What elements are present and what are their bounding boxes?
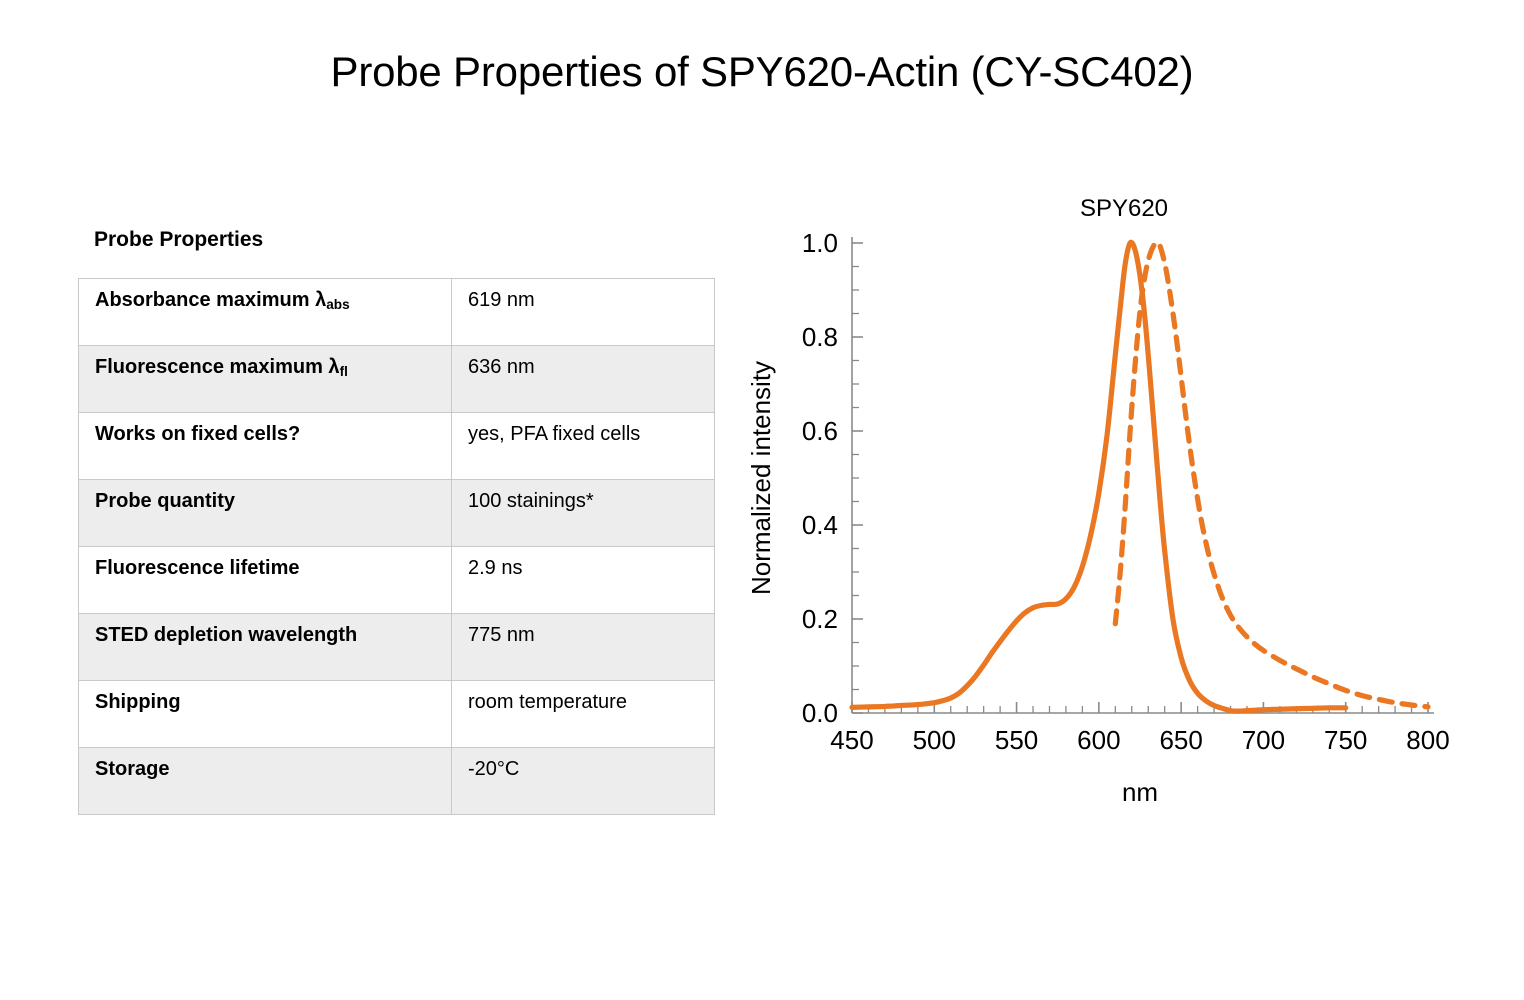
table-row: Works on fixed cells?yes, PFA fixed cell… (79, 413, 715, 480)
y-tick-label: 0.6 (802, 416, 838, 446)
table-row: Fluorescence maximum λfl636 nm (79, 346, 715, 413)
y-tick-label: 0.4 (802, 510, 838, 540)
y-tick-label: 0.2 (802, 604, 838, 634)
property-label-cell: Works on fixed cells? (79, 413, 452, 480)
y-tick-label: 1.0 (802, 228, 838, 258)
property-label-subscript: fl (340, 364, 348, 379)
table-row: Probe quantity100 stainings* (79, 480, 715, 547)
page-title: Probe Properties of SPY620-Actin (CY-SC4… (0, 48, 1524, 96)
x-tick-label: 700 (1242, 725, 1285, 755)
property-label-cell: Probe quantity (79, 480, 452, 547)
spectra-plot-svg: 0.00.20.40.60.81.0 450500550600650700750… (740, 195, 1460, 805)
absorption-curve (852, 242, 1346, 711)
property-value-cell: 775 nm (452, 614, 715, 681)
x-tick-label: 650 (1159, 725, 1202, 755)
y-axis-tick-labels: 0.00.20.40.60.81.0 (802, 228, 838, 728)
probe-properties-panel: Probe Properties Absorbance maximum λabs… (78, 228, 682, 815)
x-axis-title: nm (1122, 777, 1158, 805)
table-row: STED depletion wavelength775 nm (79, 614, 715, 681)
x-tick-label: 800 (1406, 725, 1449, 755)
property-label-cell: Storage (79, 748, 452, 815)
spectra-chart: SPY620 0.00.20.40.60.81.0 45050055060065… (740, 195, 1460, 805)
x-axis-tick-labels: 450500550600650700750800 (830, 725, 1449, 755)
property-value-cell: 636 nm (452, 346, 715, 413)
y-tick-label: 0.8 (802, 322, 838, 352)
property-value-cell: 619 nm (452, 279, 715, 346)
x-tick-label: 750 (1324, 725, 1367, 755)
property-value-cell: 2.9 ns (452, 547, 715, 614)
property-label-cell: Fluorescence maximum λfl (79, 346, 452, 413)
table-row: Storage-20°C (79, 748, 715, 815)
y-tick-label: 0.0 (802, 698, 838, 728)
table-row: Shippingroom temperature (79, 681, 715, 748)
y-axis-title: Normalized intensity (746, 361, 776, 595)
probe-properties-table: Absorbance maximum λabs619 nmFluorescenc… (78, 278, 715, 815)
property-label-subscript: abs (326, 297, 349, 312)
x-tick-label: 600 (1077, 725, 1120, 755)
property-value-cell: 100 stainings* (452, 480, 715, 547)
property-label-cell: Absorbance maximum λabs (79, 279, 452, 346)
property-label-cell: Shipping (79, 681, 452, 748)
emission-curve (1115, 242, 1428, 707)
x-tick-label: 450 (830, 725, 873, 755)
table-row: Absorbance maximum λabs619 nm (79, 279, 715, 346)
spectra-curves (852, 242, 1428, 711)
properties-heading: Probe Properties (94, 228, 682, 252)
property-label-cell: Fluorescence lifetime (79, 547, 452, 614)
table-row: Fluorescence lifetime2.9 ns (79, 547, 715, 614)
property-label-cell: STED depletion wavelength (79, 614, 452, 681)
property-value-cell: -20°C (452, 748, 715, 815)
y-axis-minor-ticks (852, 267, 859, 690)
x-tick-label: 500 (913, 725, 956, 755)
property-value-cell: yes, PFA fixed cells (452, 413, 715, 480)
property-value-cell: room temperature (452, 681, 715, 748)
x-tick-label: 550 (995, 725, 1038, 755)
